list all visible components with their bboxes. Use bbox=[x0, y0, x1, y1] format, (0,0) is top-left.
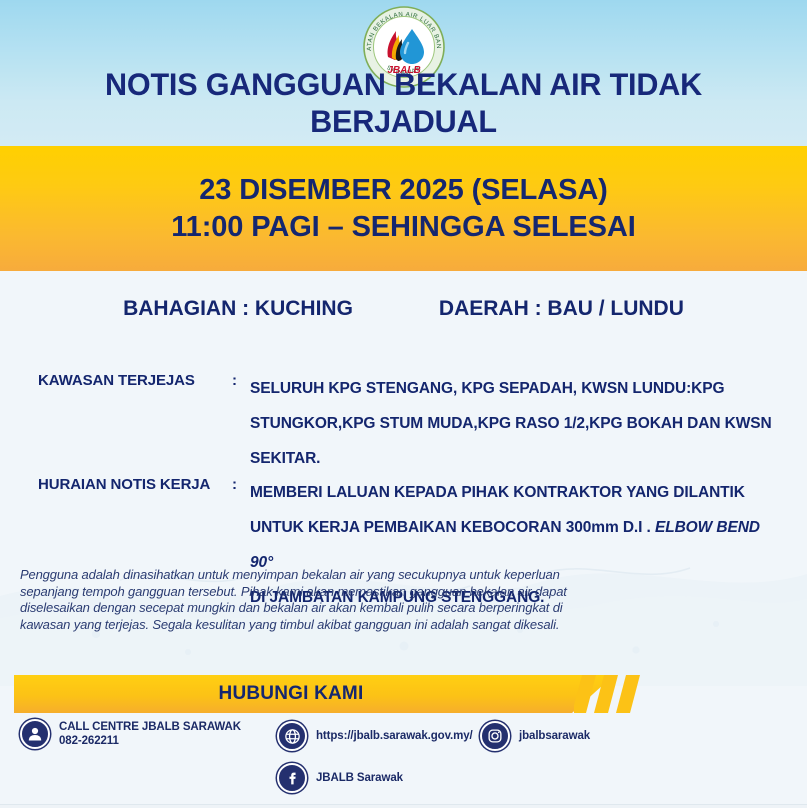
contact-instagram[interactable]: jbalbsarawak bbox=[480, 721, 590, 751]
contact-facebook[interactable]: JBALB Sarawak bbox=[277, 763, 403, 793]
globe-icon bbox=[277, 721, 307, 751]
affected-areas-line-2: STUNGKOR,KPG STUM MUDA,KPG RASO 1/2,KPG … bbox=[250, 406, 772, 441]
affected-areas-colon: : bbox=[232, 371, 250, 389]
affected-areas-section: KAWASAN TERJEJAS : SELURUH KPG STENGANG,… bbox=[38, 371, 787, 476]
instagram-handle: jbalbsarawak bbox=[519, 729, 590, 743]
contact-list: CALL CENTRE JBALB SARAWAK 082-262211 htt… bbox=[0, 715, 807, 807]
footer-edge bbox=[0, 804, 807, 808]
contact-section: HUBUNGI KAMI CALL CENTRE JBALB bbox=[0, 671, 807, 808]
page-title: NOTIS GANGGUAN BEKALAN AIR TIDAK BERJADU… bbox=[12, 66, 795, 140]
work-description-colon: : bbox=[232, 475, 250, 493]
affected-areas-value: SELURUH KPG STENGANG, KPG SEPADAH, KWSN … bbox=[250, 371, 772, 476]
contact-call-centre-text: CALL CENTRE JBALB SARAWAK 082-262211 bbox=[59, 720, 241, 748]
contact-website[interactable]: https://jbalb.sarawak.gov.my/ bbox=[277, 721, 473, 751]
call-centre-name: CALL CENTRE JBALB SARAWAK bbox=[59, 721, 241, 733]
contact-bar-label: HUBUNGI KAMI bbox=[219, 683, 364, 705]
work-description-line-2-plain: UNTUK KERJA PEMBAIKAN KEBOCORAN 300mm D.… bbox=[250, 519, 655, 536]
instagram-icon bbox=[480, 721, 510, 751]
work-description-label: HURAIAN NOTIS KERJA bbox=[38, 475, 232, 493]
disclaimer-text: Pengguna adalah dinasihatkan untuk menyi… bbox=[20, 567, 580, 633]
affected-areas-line-3: SEKITAR. bbox=[250, 441, 772, 476]
affected-areas-line-1: SELURUH KPG STENGANG, KPG SEPADAH, KWSN … bbox=[250, 371, 772, 406]
notice-poster: JABATAN BEKALAN AIR LUAR BANDAR SARAWAK … bbox=[0, 0, 807, 808]
person-icon bbox=[20, 719, 50, 749]
contact-bar: HUBUNGI KAMI bbox=[14, 675, 614, 713]
contact-call-centre[interactable]: CALL CENTRE JBALB SARAWAK 082-262211 bbox=[20, 719, 241, 749]
website-url: https://jbalb.sarawak.gov.my/ bbox=[316, 729, 473, 743]
affected-areas-label: KAWASAN TERJEJAS bbox=[38, 371, 232, 389]
poster-header: JABATAN BEKALAN AIR LUAR BANDAR SARAWAK … bbox=[0, 0, 807, 146]
decorative-slashes bbox=[574, 675, 664, 713]
work-description-line-1: MEMBERI LALUAN KEPADA PIHAK KONTRAKTOR Y… bbox=[250, 475, 787, 510]
date-banner: 23 DISEMBER 2025 (SELASA) 11:00 PAGI – S… bbox=[0, 146, 807, 271]
disruption-time: 11:00 PAGI – SEHINGGA SELESAI bbox=[171, 211, 635, 244]
facebook-page-name: JBALB Sarawak bbox=[316, 771, 403, 785]
region-row: BAHAGIAN : KUCHING DAERAH : BAU / LUNDU bbox=[0, 297, 807, 321]
disruption-date: 23 DISEMBER 2025 (SELASA) bbox=[199, 174, 607, 207]
call-centre-number: 082-262211 bbox=[59, 734, 241, 748]
district-label: DAERAH : BAU / LUNDU bbox=[439, 297, 684, 321]
facebook-icon bbox=[277, 763, 307, 793]
division-label: BAHAGIAN : KUCHING bbox=[123, 297, 353, 321]
